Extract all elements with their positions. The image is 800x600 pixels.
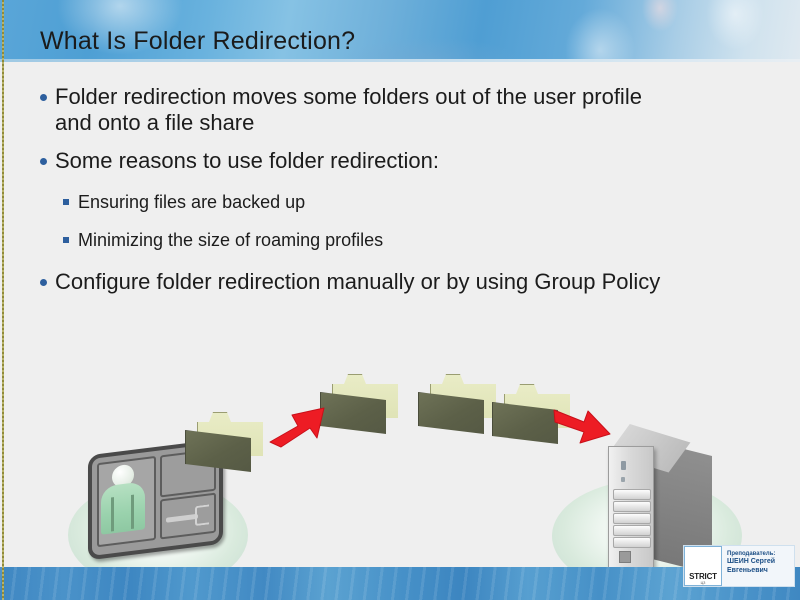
- bullet-marker-square: [63, 199, 69, 205]
- slide-footer-band: [0, 567, 800, 600]
- strict-logo-icon: STRICT ЦЗ: [684, 546, 722, 586]
- profile-wrench-icon: [195, 504, 209, 526]
- sub-bullet-text: Ensuring files are backed up: [78, 191, 305, 213]
- bullet-text: Folder redirection moves some folders ou…: [55, 84, 680, 136]
- folder-icon: [185, 412, 263, 474]
- slide-left-border: [2, 0, 4, 600]
- instructor-name-line2: Евгеньевич: [727, 567, 794, 576]
- server-drive-bay: [613, 513, 651, 524]
- slide: What Is Folder Redirection? Folder redir…: [0, 0, 800, 600]
- page-title: What Is Folder Redirection?: [40, 27, 355, 56]
- bullet-text: Some reasons to use folder redirection:: [55, 148, 439, 174]
- instructor-logo-block: STRICT ЦЗ Преподаватель: ШЕИН Сергей Евг…: [683, 545, 795, 587]
- server-drive-bay: [613, 525, 651, 536]
- server-drive-bay: [613, 489, 651, 500]
- bullet-marker-round: [40, 158, 47, 165]
- strict-logo-subtext: ЦЗ: [685, 581, 721, 585]
- server-drive-bay: [613, 501, 651, 512]
- folder-redirection-diagram: [0, 362, 800, 600]
- bullet-item: Configure folder redirection manually or…: [40, 269, 700, 295]
- bullet-marker-round: [40, 94, 47, 101]
- server-led-icon: [621, 461, 626, 470]
- red-arrow-up-right-icon: [268, 402, 328, 448]
- person-body-icon: [101, 481, 145, 534]
- sub-bullet-text: Minimizing the size of roaming profiles: [78, 229, 383, 251]
- bullet-marker-square: [63, 237, 69, 243]
- instructor-role-label: Преподаватель:: [727, 550, 794, 558]
- server-drive-bay: [613, 537, 651, 548]
- sub-bullet-item: Minimizing the size of roaming profiles: [63, 229, 663, 251]
- bullet-text: Configure folder redirection manually or…: [55, 269, 660, 295]
- sub-bullet-item: Ensuring files are backed up: [63, 191, 663, 213]
- instructor-name-line1: ШЕИН Сергей: [727, 558, 794, 567]
- slide-body: Folder redirection moves some folders ou…: [0, 62, 800, 567]
- instructor-info: Преподаватель: ШЕИН Сергей Евгеньевич: [722, 546, 794, 586]
- server-badge: [619, 551, 631, 563]
- folder-icon: [320, 374, 398, 436]
- server-front-panel: [608, 446, 654, 574]
- bullet-item: Some reasons to use folder redirection:: [40, 148, 680, 174]
- bullet-item: Folder redirection moves some folders ou…: [40, 84, 680, 136]
- strict-logo-text: STRICT: [685, 572, 721, 581]
- folder-icon: [418, 374, 496, 436]
- server-led-icon: [621, 477, 625, 482]
- person-detail: [111, 497, 114, 531]
- person-detail: [131, 495, 134, 529]
- bullet-marker-round: [40, 279, 47, 286]
